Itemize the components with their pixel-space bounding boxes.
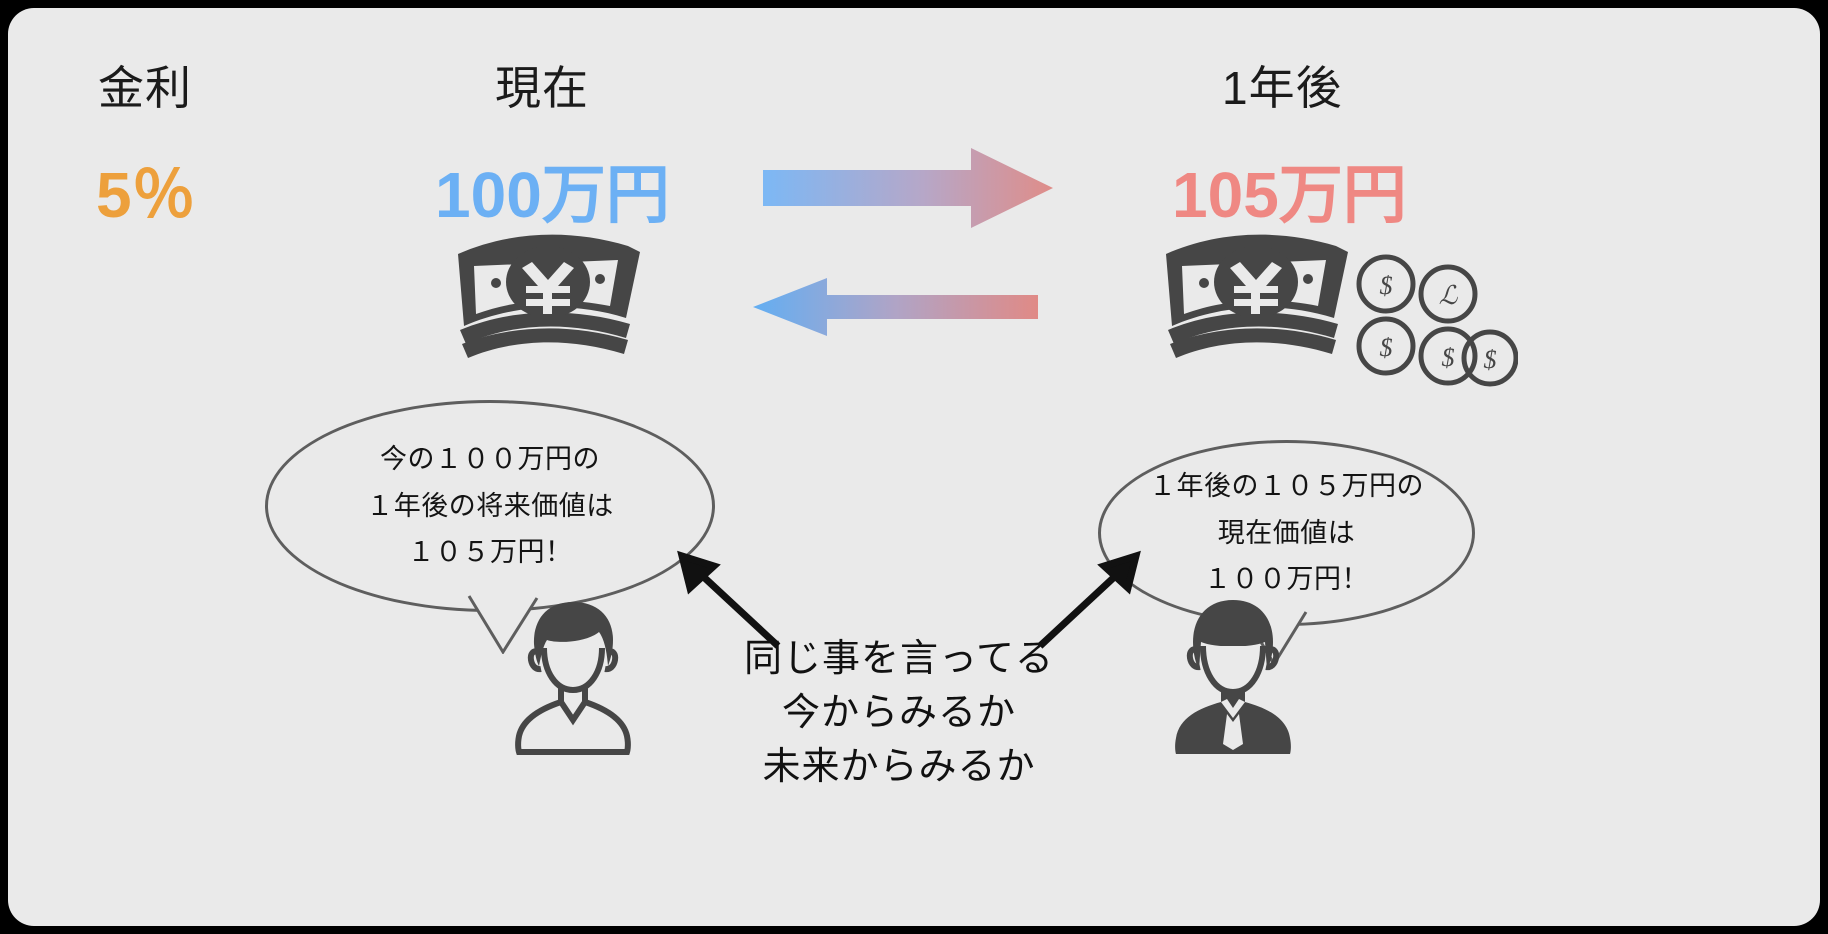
rate-column-label: 金利: [98, 52, 192, 118]
person-suit-icon: [1163, 596, 1303, 756]
person-casual-icon: [503, 596, 643, 756]
future-value-arrow: [763, 148, 1053, 228]
future-value-bubble: 今の１００万円の １年後の将来価値は １０５万円！: [265, 400, 715, 612]
banknote-yen-icon: [1156, 226, 1356, 361]
svg-text:$: $: [1442, 343, 1455, 372]
coins-icon: $ ℒ $ $ $: [1348, 246, 1518, 396]
svg-text:$: $: [1380, 271, 1393, 300]
screenshot-stage: 金利 5％ 現在 100万円 1年後 105万円: [0, 0, 1828, 934]
present-value-bubble-text: １年後の１０５万円の 現在価値は １００万円！: [1149, 463, 1424, 602]
svg-text:ℒ: ℒ: [1439, 281, 1459, 310]
present-value-arrow: [753, 278, 1038, 336]
svg-text:$: $: [1380, 333, 1393, 362]
banknote-yen-icon: [448, 226, 648, 361]
future-value-bubble-text: 今の１００万円の １年後の将来価値は １０５万円！: [366, 436, 614, 575]
future-column-label: 1年後: [1222, 52, 1343, 118]
diagram-card: 金利 5％ 現在 100万円 1年後 105万円: [8, 8, 1820, 926]
present-column-value: 100万円: [435, 144, 670, 236]
future-column-value: 105万円: [1172, 144, 1407, 236]
center-caption: 同じ事を言ってる 今からみるか 未来からみるか: [724, 633, 1074, 795]
rate-column-value: 5％: [96, 144, 196, 236]
present-column-label: 現在: [495, 52, 589, 118]
svg-text:$: $: [1484, 345, 1497, 374]
